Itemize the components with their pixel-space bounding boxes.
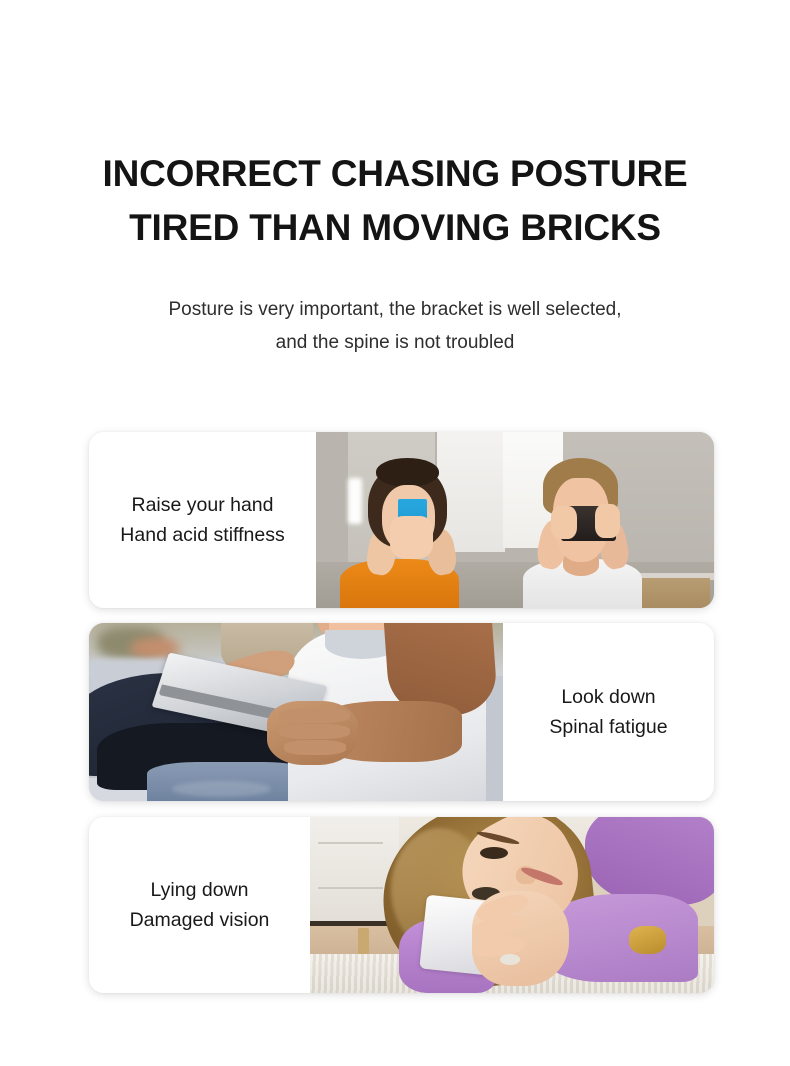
card-text-panel: Look down Spinal fatigue (503, 623, 714, 801)
page-subtitle: Posture is very important, the bracket i… (0, 293, 790, 359)
cabinet-drawer-line (318, 842, 383, 844)
left-child-hands (390, 516, 434, 558)
finger (279, 724, 349, 738)
right-child-hand (551, 506, 577, 539)
page-subtitle-line-2: and the spine is not troubled (0, 326, 790, 359)
card-text-panel: Lying down Damaged vision (89, 817, 310, 993)
card-label-line-1: Look down (561, 682, 655, 712)
page-title-line-1: INCORRECT CHASING POSTURE (0, 147, 790, 201)
card-text-panel: Raise your hand Hand acid stiffness (89, 432, 316, 608)
page-title: INCORRECT CHASING POSTURE TIRED THAN MOV… (0, 147, 790, 255)
right-child-hand (595, 504, 621, 537)
chair-leg (358, 928, 368, 958)
card-label-line-2: Damaged vision (130, 905, 270, 935)
father-and-son-looking-down-at-tablet-photo (89, 623, 503, 801)
posture-card-lying-down: Lying down Damaged vision (89, 817, 714, 993)
wooden-counter (638, 578, 710, 608)
card-label-line-2: Spinal fatigue (549, 712, 667, 742)
eye (480, 847, 508, 859)
left-child-hair (376, 458, 440, 486)
card-label-line-1: Raise your hand (131, 490, 273, 520)
finger (279, 708, 349, 722)
window-highlight (348, 478, 362, 524)
finger (284, 740, 346, 754)
page-title-line-2: TIRED THAN MOVING BRICKS (0, 201, 790, 255)
ring (500, 954, 520, 965)
posture-card-raise-your-hand: Raise your hand Hand acid stiffness (89, 432, 714, 608)
two-children-holding-phones-up-photo (316, 432, 714, 608)
posture-card-look-down: Look down Spinal fatigue (89, 623, 714, 801)
cabinet-drawer-line (318, 887, 383, 889)
woman-lying-on-rug-with-phone-photo (310, 817, 714, 993)
gold-watch (629, 926, 665, 954)
page-subtitle-line-1: Posture is very important, the bracket i… (0, 293, 790, 326)
card-label-line-1: Lying down (151, 875, 249, 905)
purple-sleeve (585, 817, 714, 905)
card-label-line-2: Hand acid stiffness (120, 520, 284, 550)
